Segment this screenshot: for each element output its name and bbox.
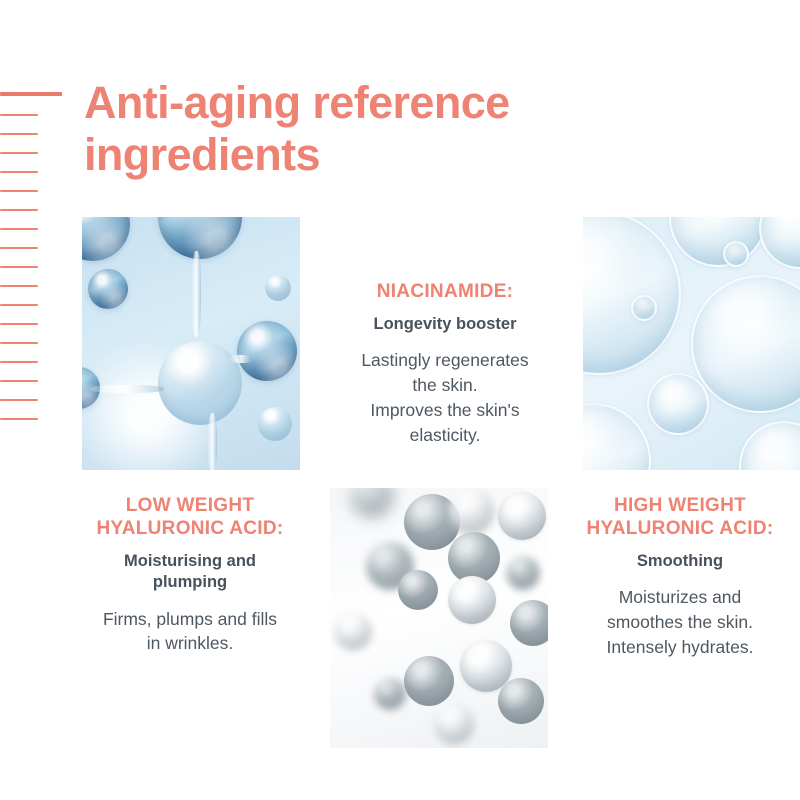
rule-line-thin <box>0 418 38 420</box>
rule-line-thin <box>0 133 38 135</box>
rule-line-thin <box>0 152 38 154</box>
ingredient-body: Moisturizes and smoothes the skin. Inten… <box>555 585 800 660</box>
left-rule-decoration <box>0 92 70 432</box>
rule-line-thin <box>0 114 38 116</box>
rule-line-thin <box>0 247 38 249</box>
rule-line-thin <box>0 285 38 287</box>
rule-line-thick <box>0 92 62 96</box>
rule-line-thin <box>0 266 38 268</box>
rule-line-thin <box>0 342 38 344</box>
ingredient-block-niacinamide: NIACINAMIDE: Longevity booster Lastingly… <box>320 280 570 448</box>
page-title-line-2: ingredients <box>84 129 724 181</box>
rule-line-thin <box>0 361 38 363</box>
ingredient-block-low-weight-hyaluronic-acid: LOW WEIGHT HYALURONIC ACID: Moisturising… <box>65 494 315 656</box>
rule-line-thin <box>0 304 38 306</box>
ingredient-body: Lastingly regenerates the skin. Improves… <box>320 348 570 447</box>
oil-bubbles-photo <box>583 217 800 470</box>
ingredient-body: Firms, plumps and fills in wrinkles. <box>65 607 315 657</box>
ingredient-subtitle: Moisturising and plumping <box>65 551 315 593</box>
ingredient-title: NIACINAMIDE: <box>320 280 570 303</box>
page-title-line-1: Anti-aging reference <box>84 77 724 129</box>
ingredient-block-high-weight-hyaluronic-acid: HIGH WEIGHT HYALURONIC ACID: Smoothing M… <box>555 494 800 660</box>
rule-line-thin <box>0 380 38 382</box>
rule-line-thin <box>0 323 38 325</box>
grey-spheres-photo <box>330 488 548 748</box>
page-title: Anti-aging reference ingredients <box>84 77 724 181</box>
rule-line-thin <box>0 209 38 211</box>
rule-line-thin <box>0 171 38 173</box>
ingredient-title: LOW WEIGHT HYALURONIC ACID: <box>65 494 315 540</box>
rule-line-thin <box>0 190 38 192</box>
rule-line-thin <box>0 228 38 230</box>
ingredient-subtitle: Longevity booster <box>320 314 570 335</box>
water-molecules-photo <box>82 217 300 470</box>
ingredient-title: HIGH WEIGHT HYALURONIC ACID: <box>555 494 800 540</box>
rule-line-thin <box>0 399 38 401</box>
ingredient-subtitle: Smoothing <box>555 551 800 572</box>
